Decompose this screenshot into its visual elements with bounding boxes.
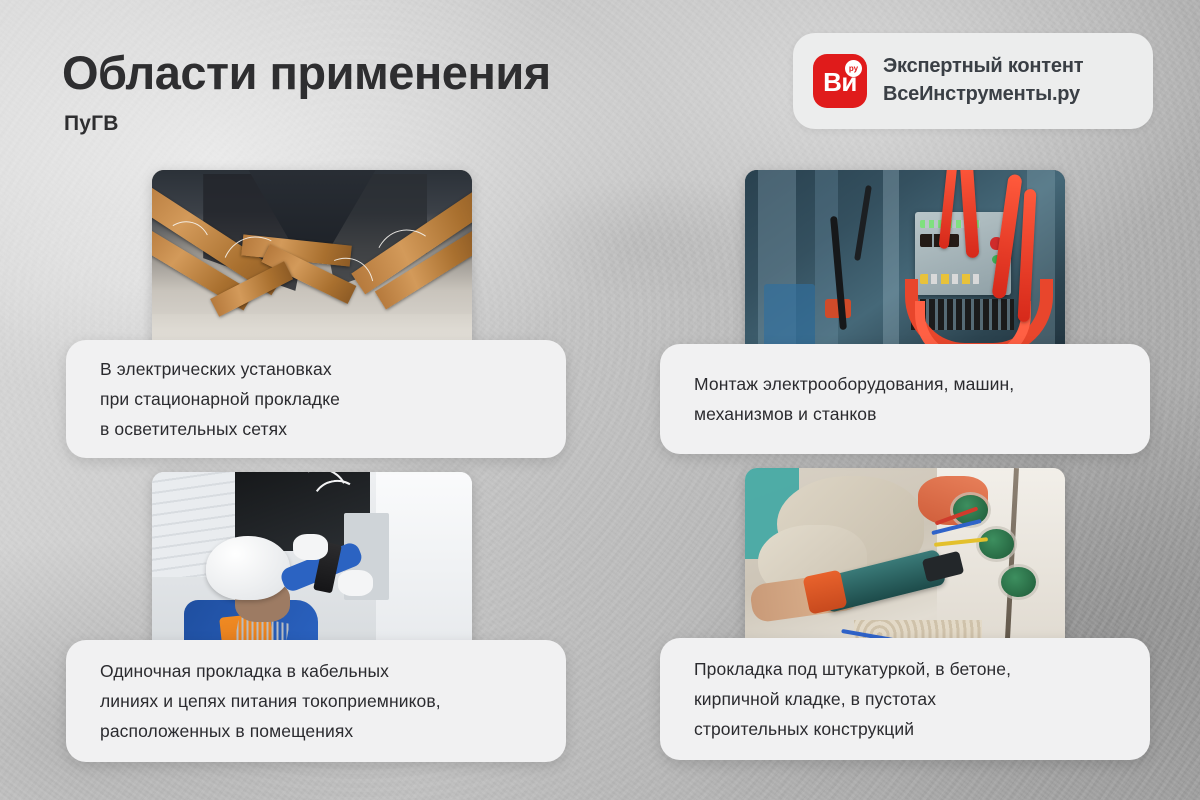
caption-line: линиях и цепях питания токоприемников,	[100, 686, 441, 716]
brand-badge-text: Экспертный контент ВсеИнструменты.ру	[883, 54, 1083, 107]
caption-line: В электрических установках	[100, 354, 340, 384]
caption-line: Одиночная прокладка в кабельных	[100, 656, 441, 686]
caption-text-4: Прокладка под штукатуркой, в бетоне, кир…	[694, 654, 1011, 744]
photo-attic-rafters	[152, 170, 472, 365]
photo-electrician-ceiling-work	[152, 472, 472, 660]
brand-badge: Ви ру Экспертный контент ВсеИнструменты.…	[793, 33, 1153, 129]
caption-line: Монтаж электрооборудования, машин,	[694, 369, 1014, 399]
caption-card-4: Прокладка под штукатуркой, в бетоне, кир…	[660, 638, 1150, 760]
caption-line: механизмов и станков	[694, 399, 1014, 429]
caption-card-1: В электрических установках при стационар…	[66, 340, 566, 458]
photo-wall-socket-drilling	[745, 468, 1065, 658]
logo-ru-superscript: ру	[845, 60, 862, 77]
caption-line: в осветительных сетях	[100, 414, 340, 444]
caption-line: Прокладка под штукатуркой, в бетоне,	[694, 654, 1011, 684]
caption-line: кирпичной кладке, в пустотах	[694, 684, 1011, 714]
caption-card-2: Монтаж электрооборудования, машин, механ…	[660, 344, 1150, 454]
caption-text-2: Монтаж электрооборудования, машин, механ…	[694, 369, 1014, 429]
caption-card-3: Одиночная прокладка в кабельных линиях и…	[66, 640, 566, 762]
vseinstrumenty-logo-icon: Ви ру	[813, 54, 867, 108]
caption-text-1: В электрических установках при стационар…	[100, 354, 340, 444]
infographic-slide: Области применения ПуГВ Ви ру Экспертный…	[0, 0, 1200, 800]
caption-line: при стационарной прокладке	[100, 384, 340, 414]
page-subtitle: ПуГВ	[64, 112, 119, 136]
photo-industrial-control-panel	[745, 170, 1065, 360]
caption-line: расположенных в помещениях	[100, 716, 441, 746]
caption-text-3: Одиночная прокладка в кабельных линиях и…	[100, 656, 441, 746]
brand-badge-line-1: Экспертный контент	[883, 54, 1083, 80]
page-title: Области применения	[62, 48, 551, 97]
caption-line: строительных конструкций	[694, 714, 1011, 744]
brand-badge-line-2: ВсеИнструменты.ру	[883, 82, 1083, 108]
